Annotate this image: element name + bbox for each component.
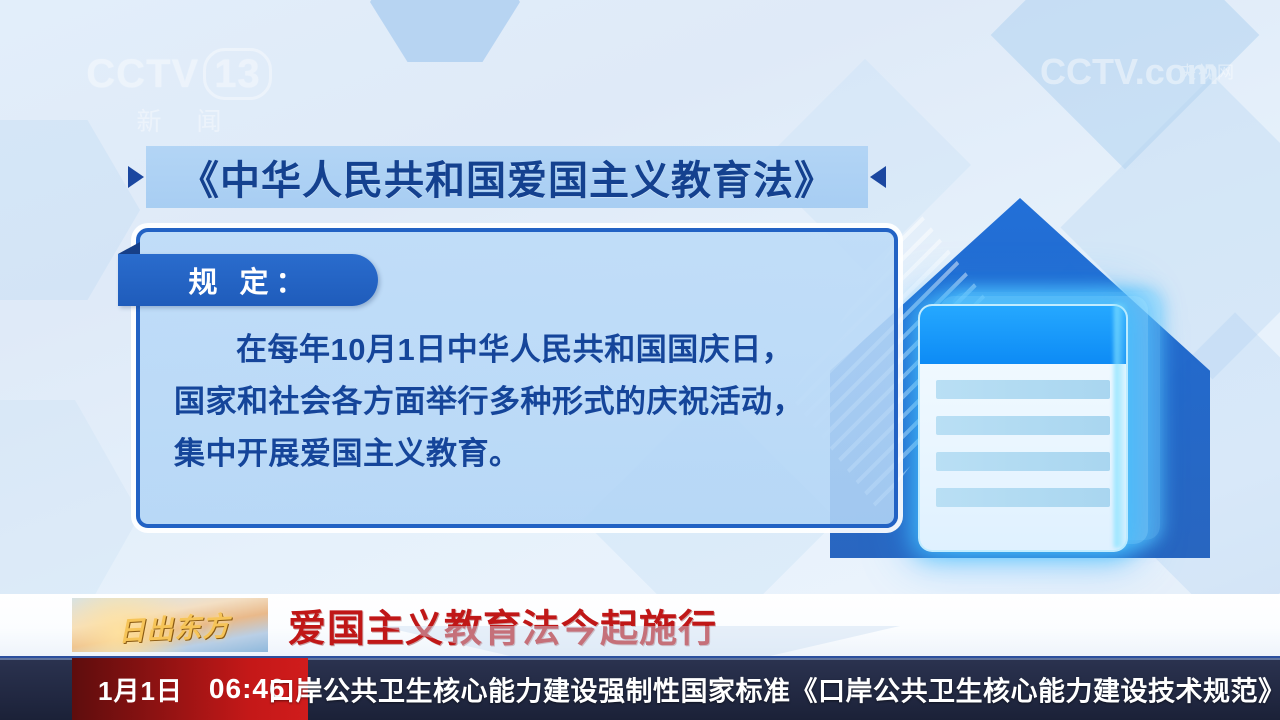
broadcast-screen: CCTV13 新 闻 CCTV.com 央视网 《中华人民共和国爱国主义教育法》… <box>0 0 1280 720</box>
law-title-band: 《中华人民共和国爱国主义教育法》 <box>146 146 868 208</box>
cctv-com-watermark: CCTV.com 央视网 <box>1040 52 1240 110</box>
ticker-date: 1月1日 <box>98 671 183 708</box>
cctv-wordmark: CCTV <box>86 52 199 96</box>
document-header-bar <box>920 306 1126 364</box>
lower-third-headline-bar: 日出东方 爱国主义教育法今起施行 <box>0 594 1280 658</box>
triangle-left-icon <box>870 166 886 188</box>
document-text-lines <box>920 364 1126 507</box>
news-ticker-bar: 1月1日 06:46 口岸公共卫生核心能力建设强制性国家标准《口岸公共卫生核心能… <box>0 658 1280 720</box>
cctv-com-chinese-name: 央视网 <box>1179 58 1236 83</box>
channel-number: 13 <box>203 48 272 100</box>
program-logo-text: 日出东方 <box>91 600 257 652</box>
provision-label-tab: 规 定： <box>118 254 378 306</box>
provision-card: 规 定： 在每年10月1日中华人民共和国国庆日， 国家和社会各方面举行多种形式的… <box>136 228 898 528</box>
program-logo: 日出东方 <box>72 598 268 652</box>
cctv13-logo-subtitle: 新 闻 <box>74 102 284 138</box>
document-line <box>936 416 1110 435</box>
provision-body: 在每年10月1日中华人民共和国国庆日， 国家和社会各方面举行多种形式的庆祝活动，… <box>174 324 868 480</box>
triangle-right-icon <box>128 166 144 188</box>
law-title-text: 《中华人民共和国爱国主义教育法》 <box>179 148 835 206</box>
document-line <box>936 380 1110 399</box>
cctv13-logo-watermark: CCTV13 新 闻 <box>74 48 284 140</box>
cctv13-logo-row: CCTV13 <box>74 48 284 100</box>
document-line <box>936 452 1110 471</box>
document-page-front <box>918 304 1128 552</box>
provision-line-1: 在每年10月1日中华人民共和国国庆日， <box>174 324 868 376</box>
provision-label-text: 规 定： <box>188 259 311 301</box>
document-line <box>936 488 1110 507</box>
document-list-icon <box>918 300 1168 552</box>
document-glow-edge <box>1114 304 1128 548</box>
headline-text: 爱国主义教育法今起施行 <box>288 598 717 653</box>
bg-hexagon-top <box>370 0 520 62</box>
provision-line-3: 集中开展爱国主义教育。 <box>174 428 868 480</box>
provision-line-2: 国家和社会各方面举行多种形式的庆祝活动， <box>174 376 868 428</box>
ticker-scroll-text: 口岸公共卫生核心能力建设强制性国家标准《口岸公共卫生核心能力建设技术规范》今起施 <box>268 670 1280 709</box>
